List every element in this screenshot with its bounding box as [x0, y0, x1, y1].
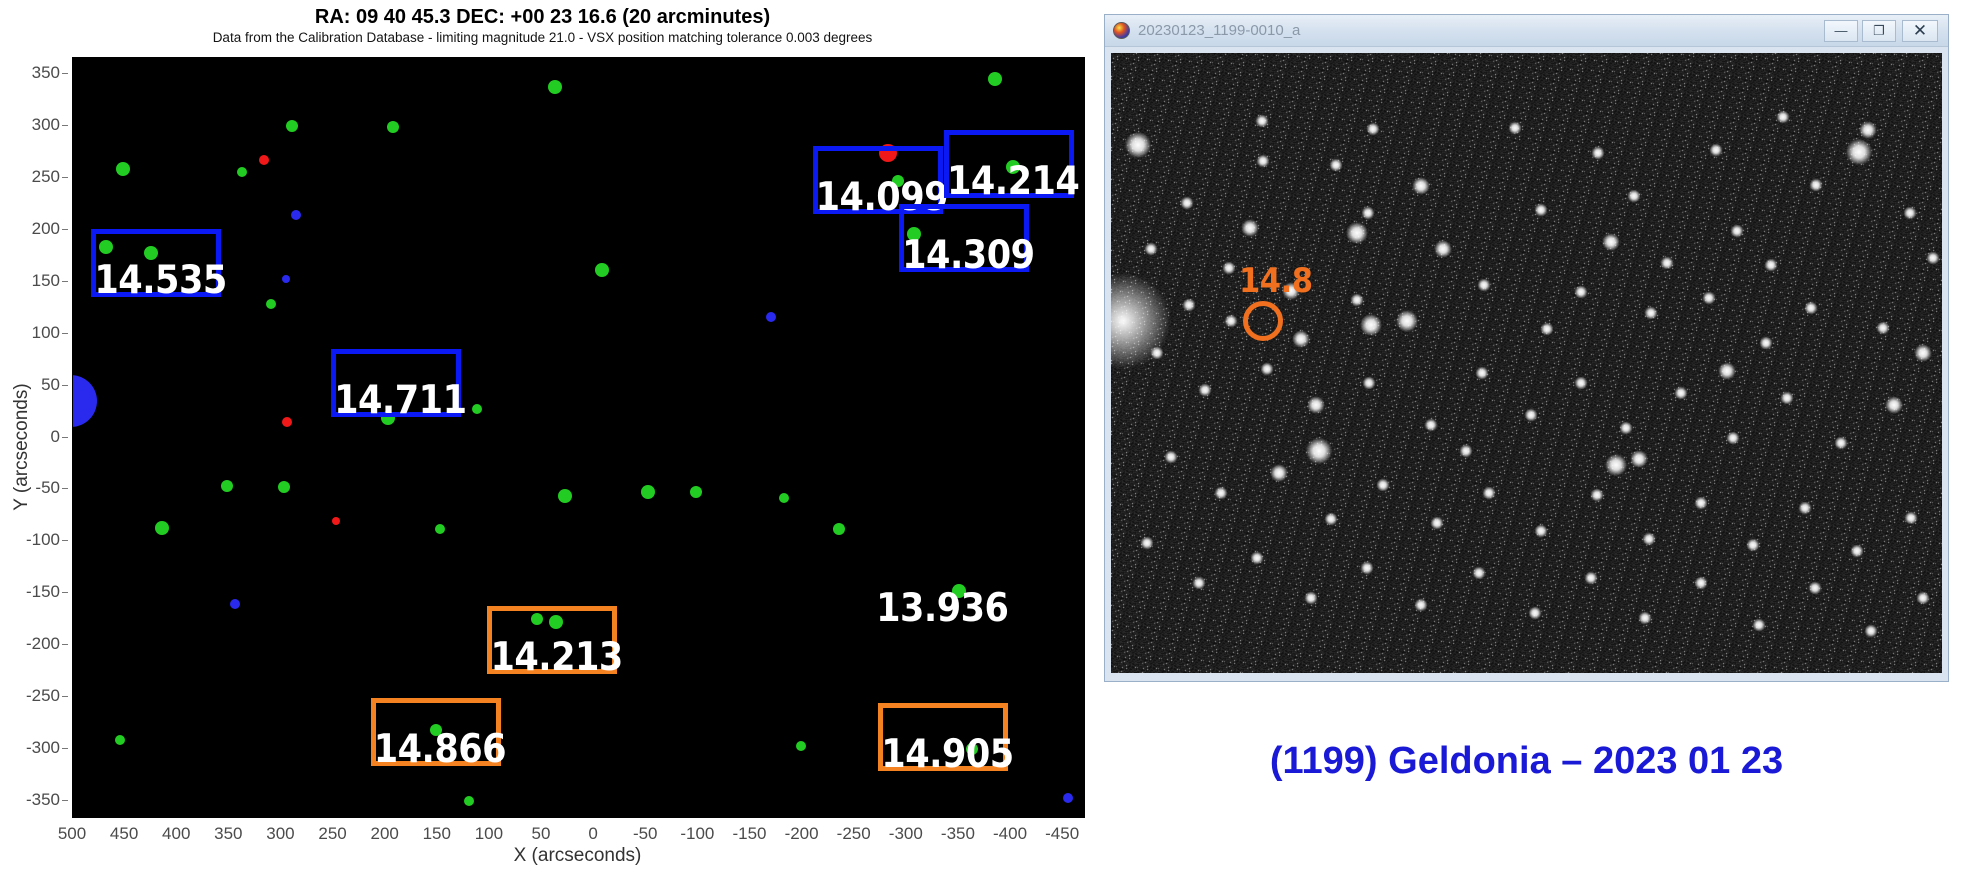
- close-button[interactable]: ✕: [1902, 20, 1938, 42]
- star-marker: [464, 796, 474, 806]
- y-tick-mark: [62, 229, 68, 230]
- star-marker: [332, 517, 340, 525]
- magnitude-label: 13.936: [876, 589, 1000, 628]
- y-tick-label: -100: [26, 530, 60, 550]
- y-tick-mark: [62, 125, 68, 126]
- x-tick-label: -150: [732, 824, 766, 844]
- star-marker: [558, 489, 572, 503]
- star-marker: [230, 599, 240, 609]
- star-marker: [291, 210, 301, 220]
- plot-area[interactable]: 14.53514.71114.09914.21414.30913.93614.2…: [72, 57, 1085, 818]
- y-axis-title: Y (arcseconds): [11, 367, 33, 527]
- star-marker: [115, 735, 125, 745]
- y-tick-label: 100: [32, 323, 60, 343]
- sky-image-canvas[interactable]: 14.8: [1111, 53, 1942, 673]
- x-tick-label: -450: [1045, 824, 1079, 844]
- y-tick-mark: [62, 488, 68, 489]
- star-marker: [766, 312, 776, 322]
- star-marker: [155, 521, 169, 535]
- x-tick-label: 50: [532, 824, 551, 844]
- y-tick-label: 200: [32, 219, 60, 239]
- y-tick-label: -250: [26, 686, 60, 706]
- star-marker: [72, 375, 97, 427]
- x-tick-label: -250: [837, 824, 871, 844]
- star-marker: [796, 741, 806, 751]
- window-titlebar[interactable]: 20230123_1199-0010_a — ❐ ✕: [1105, 15, 1948, 47]
- y-tick-mark: [62, 437, 68, 438]
- x-tick-label: 500: [58, 824, 86, 844]
- star-marker: [387, 121, 399, 133]
- chart-subtitle: Data from the Calibration Database - lim…: [0, 30, 1085, 45]
- y-tick-label: 250: [32, 167, 60, 187]
- star-marker: [116, 162, 130, 176]
- x-tick-label: -300: [889, 824, 923, 844]
- x-axis-title: X (arcseconds): [72, 845, 1083, 867]
- star-field-noise: [1111, 53, 1942, 673]
- star-marker: [988, 72, 1002, 86]
- magnitude-label: 14.309: [902, 236, 1026, 275]
- star-marker: [286, 120, 298, 132]
- caption-text: (1199) Geldonia – 2023 01 23: [1104, 740, 1949, 783]
- y-tick-label: -50: [35, 478, 60, 498]
- y-tick-mark: [62, 540, 68, 541]
- star-marker: [282, 275, 290, 283]
- target-circle-annotation: [1243, 301, 1283, 341]
- x-tick-label: 400: [162, 824, 190, 844]
- magnitude-label: 14.866: [374, 730, 498, 769]
- image-stack-icon: [1113, 22, 1130, 39]
- y-tick-label: 350: [32, 63, 60, 83]
- star-marker: [548, 80, 562, 94]
- y-tick-mark: [62, 592, 68, 593]
- x-tick-label: 350: [214, 824, 242, 844]
- y-tick-label: 150: [32, 271, 60, 291]
- magnitude-label: 14.535: [94, 261, 218, 300]
- star-chart-panel: RA: 09 40 45.3 DEC: +00 23 16.6 (20 arcm…: [0, 0, 1090, 885]
- window-title: 20230123_1199-0010_a: [1138, 22, 1300, 39]
- y-tick-label: 300: [32, 115, 60, 135]
- x-tick-label: 100: [475, 824, 503, 844]
- x-tick-label: 200: [370, 824, 398, 844]
- magnitude-label: 14.711: [334, 381, 458, 420]
- y-tick-mark: [62, 748, 68, 749]
- magnitude-label: 14.905: [881, 735, 1005, 774]
- minimize-button[interactable]: —: [1824, 20, 1858, 42]
- star-marker: [472, 404, 482, 414]
- star-marker: [435, 524, 445, 534]
- y-tick-label: 0: [51, 427, 60, 447]
- y-tick-mark: [62, 644, 68, 645]
- y-tick-mark: [62, 177, 68, 178]
- chart-title: RA: 09 40 45.3 DEC: +00 23 16.6 (20 arcm…: [0, 6, 1085, 29]
- star-marker: [259, 155, 269, 165]
- magnitude-label: 14.214: [947, 162, 1071, 201]
- star-marker: [237, 167, 247, 177]
- fits-image-window: 20230123_1199-0010_a — ❐ ✕ 14.8: [1104, 14, 1949, 682]
- x-tick-label: -100: [680, 824, 714, 844]
- y-tick-mark: [62, 333, 68, 334]
- star-marker: [1063, 793, 1073, 803]
- star-marker: [221, 480, 233, 492]
- x-tick-label: -50: [633, 824, 658, 844]
- target-magnitude-label: 14.8: [1239, 261, 1312, 301]
- star-marker: [779, 493, 789, 503]
- star-marker: [278, 481, 290, 493]
- x-tick-label: 250: [318, 824, 346, 844]
- y-tick-label: -350: [26, 790, 60, 810]
- y-tick-mark: [62, 73, 68, 74]
- star-marker: [266, 299, 276, 309]
- y-tick-mark: [62, 696, 68, 697]
- x-tick-label: -350: [941, 824, 975, 844]
- star-marker: [641, 485, 655, 499]
- magnitude-label: 14.213: [490, 638, 614, 677]
- y-tick-label: -200: [26, 634, 60, 654]
- star-marker: [690, 486, 702, 498]
- y-tick-mark: [62, 800, 68, 801]
- x-tick-label: 300: [266, 824, 294, 844]
- y-tick-mark: [62, 385, 68, 386]
- x-tick-label: -400: [993, 824, 1027, 844]
- x-tick-label: 0: [588, 824, 597, 844]
- y-tick-label: -300: [26, 738, 60, 758]
- star-marker: [595, 263, 609, 277]
- x-axis: 500450400350300250200150100500-50-100-15…: [72, 818, 1083, 848]
- star-marker: [282, 417, 292, 427]
- x-tick-label: 450: [110, 824, 138, 844]
- maximize-button[interactable]: ❐: [1862, 20, 1896, 42]
- x-tick-label: 150: [423, 824, 451, 844]
- screenshot-root: RA: 09 40 45.3 DEC: +00 23 16.6 (20 arcm…: [0, 0, 1963, 885]
- x-tick-label: -200: [785, 824, 819, 844]
- star-marker: [833, 523, 845, 535]
- y-tick-label: 50: [41, 375, 60, 395]
- y-tick-mark: [62, 281, 68, 282]
- y-tick-label: -150: [26, 582, 60, 602]
